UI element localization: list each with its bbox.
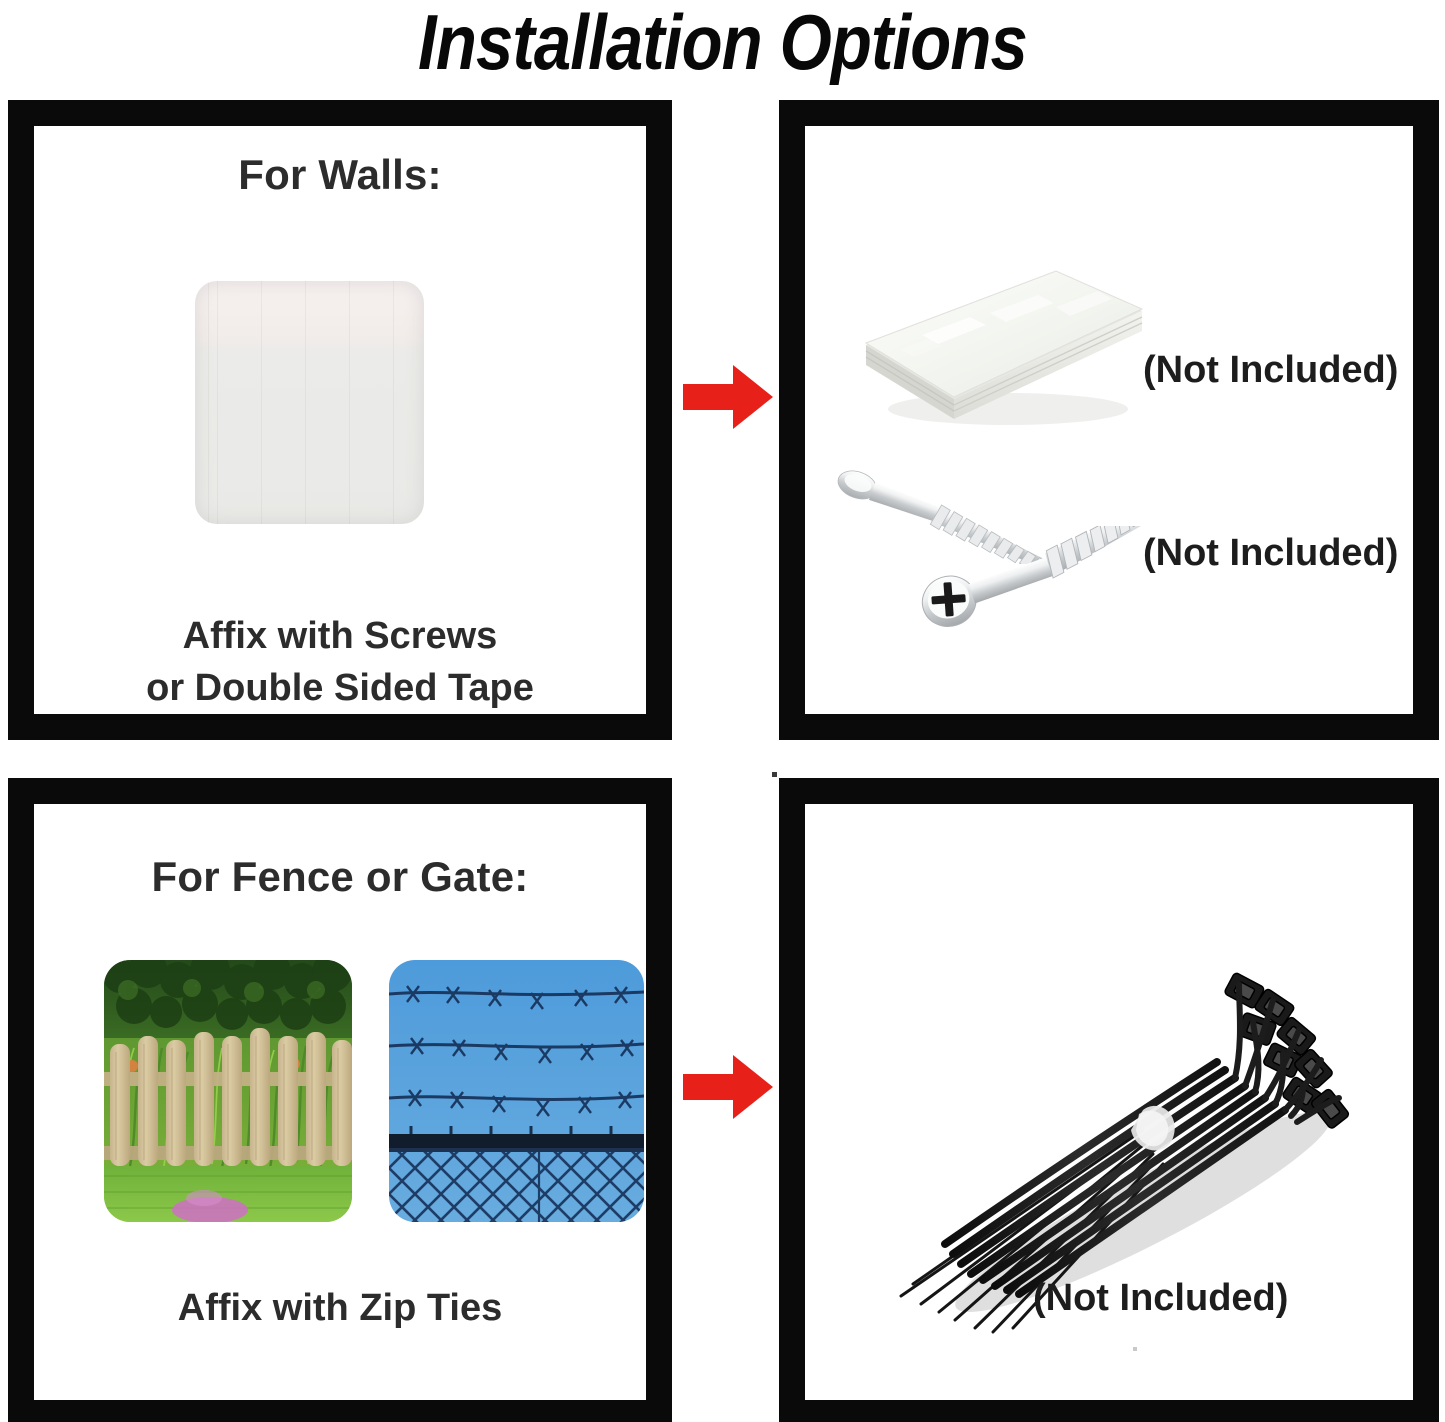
panel-for-fence-or-gate-inner: For Fence or Gate: — [34, 804, 646, 1400]
double-sided-tape-pad-stack-icon — [850, 249, 1150, 439]
for-fence-heading: For Fence or Gate: — [34, 852, 646, 902]
panel-wall-hardware: (Not Included) (Not Included) — [779, 100, 1439, 740]
for-walls-heading: For Walls: — [34, 150, 646, 200]
barbed-wire-chain-link-fence-icon — [389, 960, 644, 1222]
panel-wall-hardware-inner: (Not Included) (Not Included) — [805, 126, 1413, 714]
panel-zip-ties-inner: (Not Included) — [805, 804, 1413, 1400]
red-right-arrow-icon-bottom — [681, 1052, 775, 1122]
zip-ties-not-included-label: (Not Included) — [1033, 1276, 1288, 1320]
screws-not-included-label: (Not Included) — [1143, 531, 1398, 575]
for-walls-caption: Affix with Screws or Double Sided Tape — [34, 610, 646, 714]
white-brick-wall-swatch-icon — [195, 281, 424, 524]
panel-zip-ties: (Not Included) — [779, 778, 1439, 1422]
panel-for-walls-inner: For Walls: Affix with Screws or Double S… — [34, 126, 646, 714]
red-right-arrow-icon-top — [681, 362, 775, 432]
caption-line-1: Affix with Screws — [34, 610, 646, 662]
caption-line-2: or Double Sided Tape — [34, 662, 646, 714]
panel-for-walls: For Walls: Affix with Screws or Double S… — [8, 100, 672, 740]
installation-options-infographic: Installation Options For Walls: Affix wi… — [0, 0, 1445, 1422]
scan-artifact-dot — [772, 772, 777, 777]
tape-not-included-label: (Not Included) — [1143, 348, 1398, 392]
scan-artifact-dot — [1133, 1347, 1137, 1351]
panel-for-fence-or-gate: For Fence or Gate: — [8, 778, 672, 1422]
for-fence-caption: Affix with Zip Ties — [34, 1282, 646, 1334]
page-title: Installation Options — [101, 0, 1344, 88]
wooden-picket-fence-icon — [104, 960, 352, 1222]
